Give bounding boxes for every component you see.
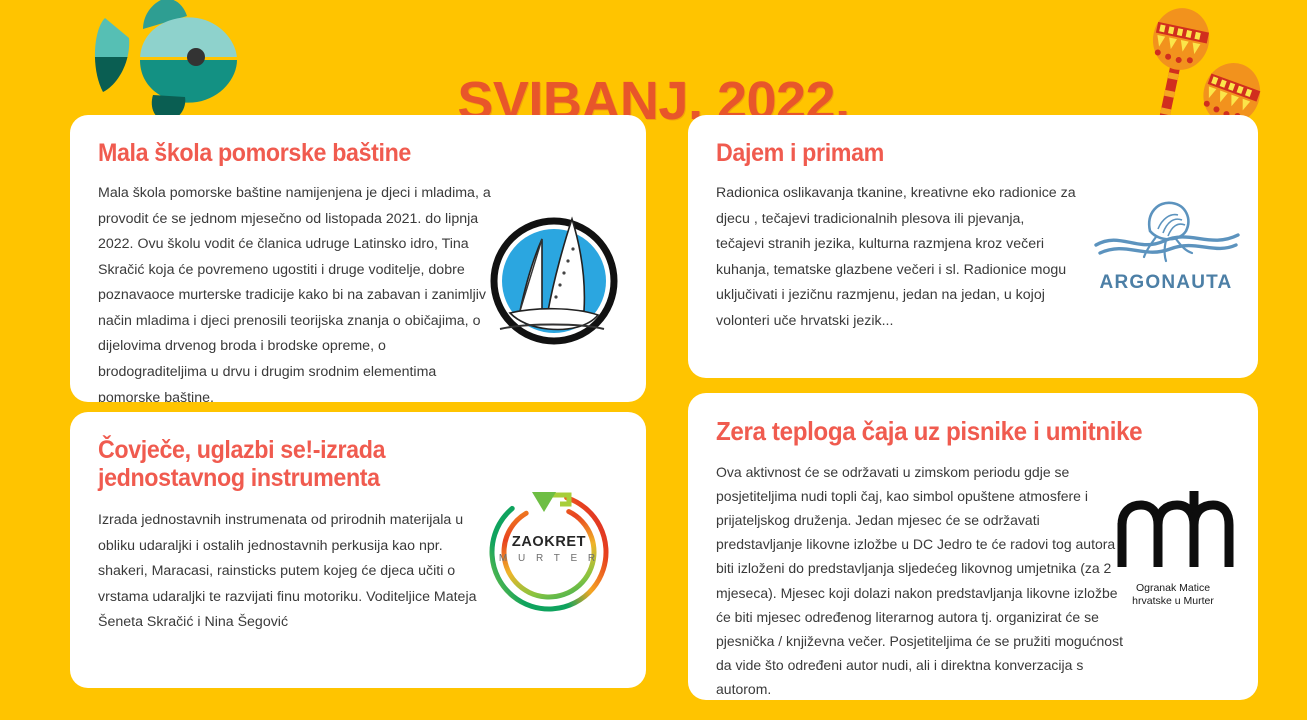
argonauta-wordmark: ARGONAUTA bbox=[1086, 272, 1246, 294]
card-mala-skola: Mala škola pomorske baštine Mala škola p… bbox=[70, 115, 646, 402]
card-body: Radionica oslikavanja tkanine, kreativne… bbox=[716, 181, 1076, 334]
fish-eye-icon bbox=[187, 48, 205, 66]
card-heading: Zera teploga čaja uz pisnike i umitnike bbox=[716, 417, 1194, 446]
latinsko-idro-logo bbox=[476, 211, 636, 356]
card-zera-teploga-caja: Zera teploga čaja uz pisnike i umitnike … bbox=[688, 393, 1258, 700]
card-heading: Mala škola pomorske baštine bbox=[98, 139, 582, 167]
card-heading: Dajem i primam bbox=[716, 139, 1194, 167]
argonauta-logo: ARGONAUTA bbox=[1086, 193, 1246, 298]
card-body: Ova aktivnost će se održavati u zimskom … bbox=[716, 460, 1128, 700]
mh-monogram-icon bbox=[1098, 487, 1248, 571]
zaokret-subtitle: M U R T E R bbox=[474, 553, 624, 564]
zaokret-murter-logo: ZAOKRET M U R T E R bbox=[474, 482, 624, 617]
card-body: Izrada jednostavnih instrumenata od prir… bbox=[98, 508, 486, 636]
card-covjece-uglazbi-se: Čovječe, uglazbi se!-izrada jednostavnog… bbox=[70, 412, 646, 688]
card-body: Mala škola pomorske baštine namijenjena … bbox=[98, 181, 498, 402]
matica-hrvatska-logo: Ogranak Matice hrvatske u Murter bbox=[1098, 487, 1248, 612]
zaokret-wordmark: ZAOKRET bbox=[474, 534, 624, 550]
nautilus-wave-icon bbox=[1086, 193, 1246, 265]
sailboat-in-circle-icon bbox=[476, 211, 636, 356]
matica-hrvatska-caption: Ogranak Matice hrvatske u Murter bbox=[1098, 582, 1248, 608]
card-dajem-i-primam: Dajem i primam Radionica oslikavanja tka… bbox=[688, 115, 1258, 378]
poster-canvas: SVIBANJ, 2022. Mala škola pomorske bašti… bbox=[0, 0, 1307, 720]
